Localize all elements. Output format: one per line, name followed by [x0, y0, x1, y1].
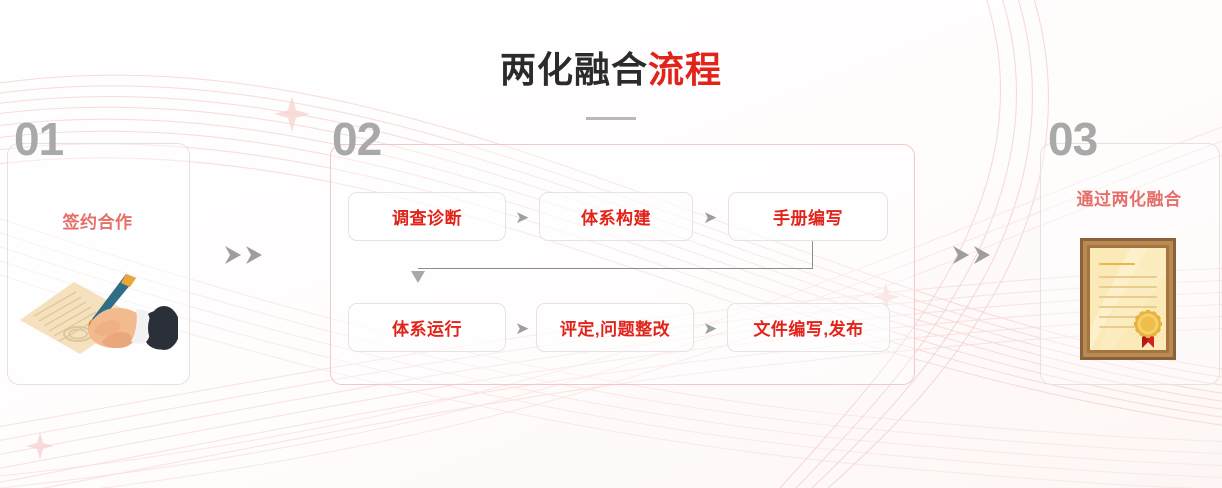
arrow-down-icon	[411, 271, 425, 283]
page-title-accent: 流程	[648, 49, 722, 90]
signing-contract-icon	[18, 258, 178, 358]
step-number-02: 02	[332, 116, 381, 162]
page-title-dark: 两化融合	[500, 49, 648, 90]
step-number-03: 03	[1048, 116, 1097, 162]
chevron-right-icon-row1-2: ➤	[703, 209, 717, 226]
infographic-stage: 两化融合流程 01 签约合作	[0, 0, 1222, 488]
process-box-row1-3[interactable]: 手册编写	[728, 192, 888, 241]
chevron-right-icon-row2-2: ➤	[703, 320, 717, 337]
process-box-row2-3[interactable]: 文件编写,发布	[727, 303, 890, 352]
double-chevron-right-icon-2	[952, 243, 998, 267]
process-box-row2-2[interactable]: 评定,问题整改	[536, 303, 694, 352]
chevron-right-icon-row1-1: ➤	[515, 209, 529, 226]
process-box-row1-2[interactable]: 体系构建	[539, 192, 693, 241]
connector-vertical	[812, 241, 813, 269]
page-title: 两化融合流程	[0, 52, 1222, 88]
certificate-icon	[1078, 236, 1178, 362]
double-chevron-right-icon	[224, 243, 270, 267]
chevron-right-icon-row2-1: ➤	[515, 320, 529, 337]
title-divider	[586, 117, 636, 120]
connector-horizontal	[418, 268, 813, 269]
process-box-row2-1[interactable]: 体系运行	[348, 303, 506, 352]
step-number-01: 01	[14, 116, 63, 162]
process-box-row1-1[interactable]: 调查诊断	[348, 192, 506, 241]
